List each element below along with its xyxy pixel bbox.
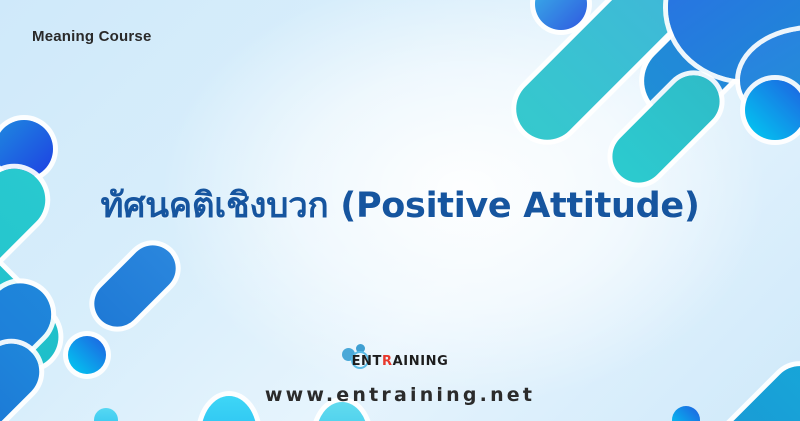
title-container: ทัศนคติเชิงบวก (Positive Attitude) [0,178,800,233]
decor-bar-blue-top-right [629,0,800,132]
decor-blob-top-right [668,0,800,80]
logo-text-before: ENT [352,354,382,369]
slide-canvas: Meaning Course ทัศนคติเชิงบวก (Positive … [0,0,800,421]
footer: ENTRAINING www.entraining.net [0,344,800,406]
decor-bar-blue-left-mid [85,236,185,336]
decor-circle-right-bright [745,80,800,140]
logo-text-accent: R [382,354,393,369]
logo-wordmark: ENTRAINING [338,355,462,369]
decor-wave-top-right [740,30,800,122]
decor-bubble-bottom-4 [672,406,700,421]
logo-text-after: AINING [393,354,449,369]
decor-circle-top-right-small [535,0,587,30]
site-url[interactable]: www.entraining.net [0,384,800,406]
decor-bar-teal-top-right [503,0,688,153]
decor-bar-teal-topright-lower [602,65,731,194]
course-label: Meaning Course [32,28,151,45]
entraining-logo: ENTRAINING [338,344,462,370]
page-title: ทัศนคติเชิงบวก (Positive Attitude) [0,178,800,233]
decor-circle-left-blue [0,120,53,178]
decor-bubble-bottom-1 [94,408,118,421]
